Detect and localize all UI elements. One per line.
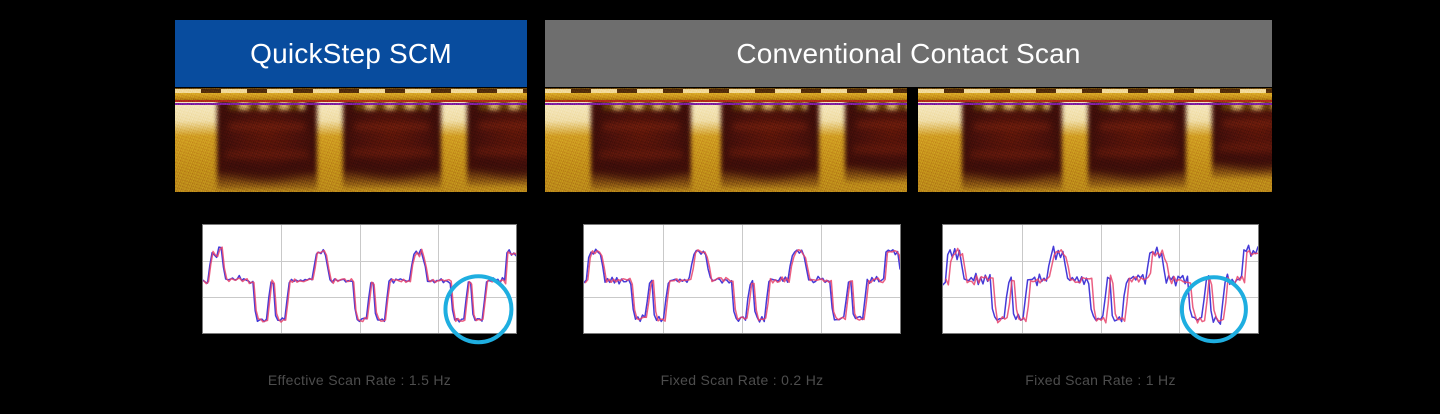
scm-noise-texture <box>545 88 907 192</box>
panel-header-conventional: Conventional Contact Scan <box>545 20 1272 87</box>
caption-scan-rate-quickstep: Effective Scan Rate : 1.5 Hz <box>202 372 517 388</box>
scan-image-conventional-b <box>918 88 1272 192</box>
scm-substrate <box>545 88 907 192</box>
scan-image-quickstep <box>175 88 527 192</box>
scm-noise-texture <box>918 88 1272 192</box>
scm-noise-texture <box>175 88 527 192</box>
scan-image-conventional-a <box>545 88 907 192</box>
scm-substrate <box>918 88 1272 192</box>
panel-header-quickstep: QuickStep SCM <box>175 20 527 87</box>
figure-root: QuickStep SCM Conventional Contact Scan <box>0 0 1440 414</box>
line-profile-chart-quickstep <box>202 224 517 334</box>
caption-scan-rate-conventional-a: Fixed Scan Rate : 0.2 Hz <box>583 372 901 388</box>
caption-scan-rate-conventional-b: Fixed Scan Rate : 1 Hz <box>942 372 1259 388</box>
scm-substrate <box>175 88 527 192</box>
line-profile-chart-conventional-a <box>583 224 901 334</box>
line-profile-chart-conventional-b <box>942 224 1259 334</box>
